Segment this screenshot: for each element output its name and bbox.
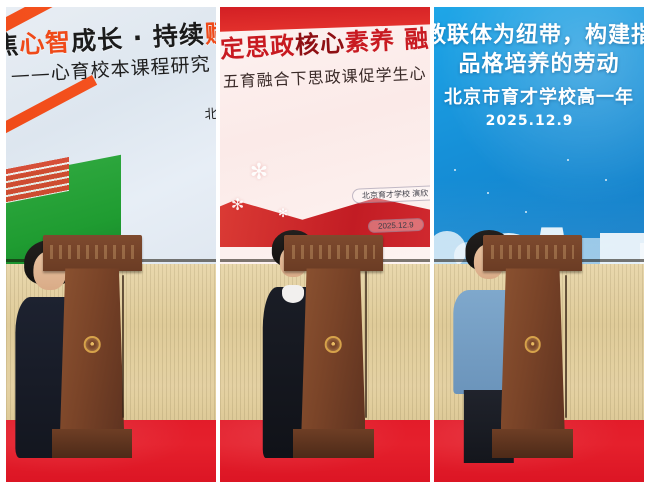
podium-emblem-2 <box>325 336 342 353</box>
podium-base-3 <box>492 429 573 458</box>
slide-date-3: 2025.12.9 <box>434 113 644 129</box>
slide-title-3-line1: 教联体为纽带，构建指 <box>434 17 644 49</box>
photo-panel-3[interactable]: 教联体为纽带，构建指 品格培养的劳动 北京市育才学校高一年 2025.12.9 <box>434 7 644 482</box>
dove-icon: ✻ <box>231 195 244 215</box>
slide-subtitle-2: 五育融合下思政课促学生心 <box>220 60 430 94</box>
photo-collage: 焦心智成长 · 持续赋 ——心育校本课程研究 北 <box>0 0 650 494</box>
projection-screen-1: 焦心智成长 · 持续赋 ——心育校本课程研究 北 <box>6 7 216 268</box>
podium-top-1 <box>43 235 142 271</box>
slide-date-pill-2: 2025.12.9 <box>368 217 424 232</box>
podium-body-3 <box>501 268 565 429</box>
dove-icon: ✻ <box>278 206 288 220</box>
slide-org-3: 北京市育才学校高一年 <box>434 83 644 109</box>
podium-top-2 <box>284 235 383 271</box>
podium-2 <box>291 235 375 458</box>
podium-emblem-1 <box>84 336 101 353</box>
dove-icon: ✻ <box>250 159 268 185</box>
photo-panel-1[interactable]: 焦心智成长 · 持续赋 ——心育校本课程研究 北 <box>6 7 216 482</box>
projection-screen-2: 定思政核心素养 融 五育融合下思政课促学生心 ✻ ✻ ✻ 北京育才学校 演欣 2… <box>220 7 430 268</box>
podium-body-1 <box>60 268 124 429</box>
podium-cable-1 <box>122 275 124 418</box>
podium-body-2 <box>301 268 365 429</box>
podium-cable-3 <box>565 275 567 418</box>
podium-cable-2 <box>365 271 367 418</box>
podium-top-3 <box>483 235 582 271</box>
podium-1 <box>50 235 134 458</box>
podium-base-2 <box>293 429 374 458</box>
slide-title-3-line2: 品格培养的劳动 <box>434 46 644 78</box>
projection-screen-3: 教联体为纽带，构建指 品格培养的劳动 北京市育才学校高一年 2025.12.9 <box>434 7 644 268</box>
slide-org-pill-2: 北京育才学校 演欣 <box>351 185 430 204</box>
photo-panel-2[interactable]: 定思政核心素养 融 五育融合下思政课促学生心 ✻ ✻ ✻ 北京育才学校 演欣 2… <box>220 7 430 482</box>
podium-emblem-3 <box>524 336 541 353</box>
podium-base-1 <box>52 429 133 458</box>
podium-3 <box>491 235 575 458</box>
